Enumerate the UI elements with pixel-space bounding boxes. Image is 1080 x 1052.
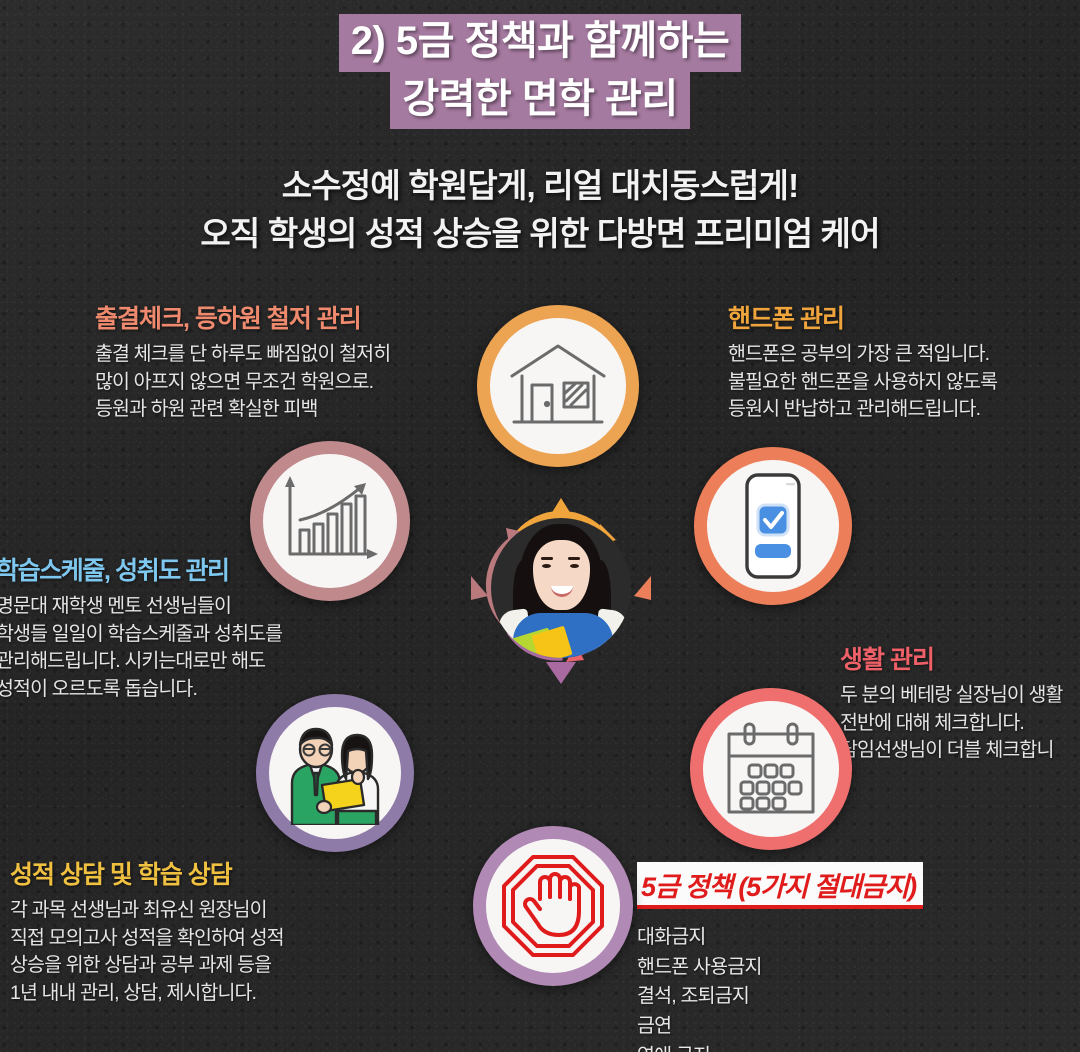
node-stop[interactable] xyxy=(473,826,633,986)
bar-chart-icon xyxy=(278,474,382,568)
life-line-1: 두 분의 베테랑 실장님이 생활 xyxy=(840,682,1063,710)
smartphone-icon xyxy=(734,472,812,580)
section-attendance: 출결체크, 등하원 철저 관리 출결 체크를 단 하루도 빠짐없이 철저히 많이… xyxy=(95,304,390,424)
schedule-line-3: 관리해드립니다. 시키는대로만 해도 xyxy=(0,648,282,676)
node-house[interactable] xyxy=(477,305,639,467)
node-chart[interactable] xyxy=(250,441,410,601)
policy-item: 결석, 조퇴금지 xyxy=(637,982,923,1012)
central-cycle-diagram xyxy=(466,496,656,706)
page-title: 2) 5금 정책과 함께하는 강력한 면학 관리 xyxy=(0,14,1080,129)
policy-banner: 5금 정책 (5가지 절대금지) xyxy=(637,862,923,909)
phone-line-2: 불필요한 핸드폰을 사용하지 않도록 xyxy=(728,369,997,397)
infographic-stage: 2) 5금 정책과 함께하는 강력한 면학 관리 소수정예 학원답게, 리얼 대… xyxy=(0,0,1080,1052)
policy-item: 연애 금지 xyxy=(637,1042,923,1052)
student-photo xyxy=(491,518,631,658)
life-heading: 생활 관리 xyxy=(840,645,1063,675)
attendance-heading: 출결체크, 등하원 철저 관리 xyxy=(95,304,390,334)
stop-hand-icon xyxy=(500,853,606,959)
policy-list: 대화금지 핸드폰 사용금지 결석, 조퇴금지 금연 연애 금지 xyxy=(637,923,923,1052)
section-policy: 5금 정책 (5가지 절대금지) 대화금지 핸드폰 사용금지 결석, 조퇴금지 … xyxy=(637,862,923,1052)
schedule-heading: 학습스케줄, 성취도 관리 xyxy=(0,556,282,586)
attendance-line-1: 출결 체크를 단 하루도 빠짐없이 철저히 xyxy=(95,341,390,369)
section-schedule: 학습스케줄, 성취도 관리 명문대 재학생 멘토 선생님들이 학생들 일일이 학… xyxy=(0,556,282,704)
counsel-line-4: 1년 내내 관리, 상담, 제시합니다. xyxy=(10,980,284,1008)
policy-item: 핸드폰 사용금지 xyxy=(637,953,923,983)
life-line-2: 전반에 대해 체크합니다. xyxy=(840,710,1063,738)
counsel-line-2: 직접 모의고사 성적을 확인하여 성적 xyxy=(10,925,284,953)
policy-item: 대화금지 xyxy=(637,923,923,953)
subtitle-line-1: 소수정예 학원답게, 리얼 대치동스럽게! xyxy=(0,162,1080,210)
schedule-line-4: 성적이 오르도록 돕습니다. xyxy=(0,676,282,704)
phone-heading: 핸드폰 관리 xyxy=(728,304,997,334)
phone-line-1: 핸드폰은 공부의 가장 큰 적입니다. xyxy=(728,341,997,369)
consultation-icon xyxy=(278,721,392,825)
counsel-line-3: 상승을 위한 상담과 공부 과제 등을 xyxy=(10,952,284,980)
attendance-line-3: 등원과 하원 관련 확실한 피백 xyxy=(95,396,390,424)
policy-item: 금연 xyxy=(637,1012,923,1042)
life-line-3: 담임선생님이 더블 체크합니 xyxy=(840,737,1063,765)
phone-line-3: 등원시 반납하고 관리해드립니다. xyxy=(728,396,997,424)
counsel-heading: 성적 상담 및 학습 상담 xyxy=(10,860,284,890)
page-subtitle: 소수정예 학원답게, 리얼 대치동스럽게! 오직 학생의 성적 상승을 위한 다… xyxy=(0,162,1080,258)
node-calendar[interactable] xyxy=(690,688,852,850)
house-icon xyxy=(506,338,610,434)
node-phone[interactable] xyxy=(694,447,852,605)
schedule-line-2: 학생들 일일이 학습스케줄과 성취도를 xyxy=(0,621,282,649)
title-line-2: 강력한 면학 관리 xyxy=(390,72,689,130)
calendar-icon xyxy=(721,720,821,818)
attendance-line-2: 많이 아프지 않으면 무조건 학원으로. xyxy=(95,369,390,397)
node-people[interactable] xyxy=(256,694,414,852)
schedule-line-1: 명문대 재학생 멘토 선생님들이 xyxy=(0,593,282,621)
section-counsel: 성적 상담 및 학습 상담 각 과목 선생님과 최유신 원장님이 직접 모의고사… xyxy=(10,860,284,1008)
section-life: 생활 관리 두 분의 베테랑 실장님이 생활 전반에 대해 체크합니다. 담임선… xyxy=(840,645,1063,765)
counsel-line-1: 각 과목 선생님과 최유신 원장님이 xyxy=(10,897,284,925)
title-line-1: 2) 5금 정책과 함께하는 xyxy=(339,14,742,72)
section-phone: 핸드폰 관리 핸드폰은 공부의 가장 큰 적입니다. 불필요한 핸드폰을 사용하… xyxy=(728,304,997,424)
subtitle-line-2: 오직 학생의 성적 상승을 위한 다방면 프리미엄 케어 xyxy=(0,210,1080,258)
